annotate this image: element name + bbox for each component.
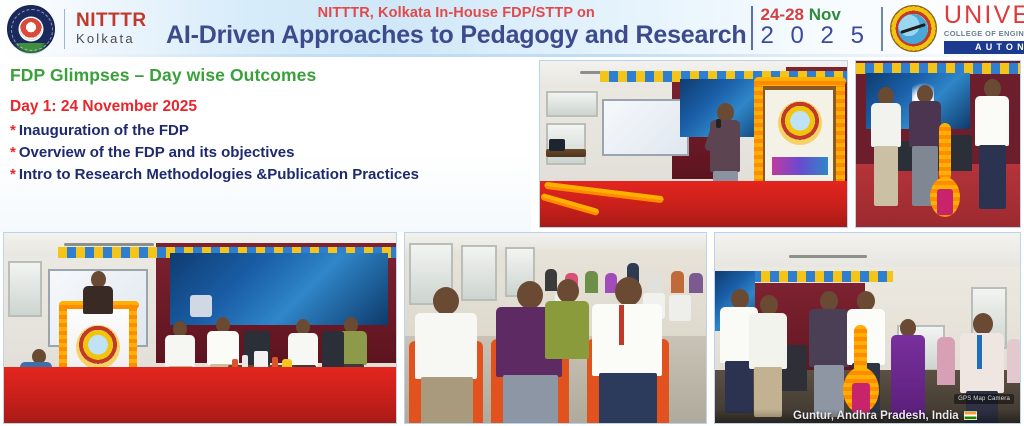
universal-subtitle: COLLEGE OF ENGINEERING &TECHNOLOGY bbox=[944, 30, 1024, 38]
poster-header: NITTTR Kolkata NITTTR, Kolkata In-House … bbox=[0, 0, 1024, 57]
outcome-bullet-3: *Intro to Research Methodologies &Public… bbox=[10, 164, 531, 186]
poster-title-block: NITTTR, Kolkata In-House FDP/STTP on AI-… bbox=[162, 6, 751, 50]
nitttr-logo-text: NITTTR Kolkata bbox=[76, 11, 147, 46]
photo-location-text: Guntur, Andhra Pradesh, India bbox=[793, 410, 959, 422]
photo-location-watermark: Guntur, Andhra Pradesh, India bbox=[715, 409, 1020, 423]
bullet-marker-icon: * bbox=[10, 166, 16, 183]
panel-heading: FDP Glimpses – Day wise Outcomes bbox=[10, 65, 531, 86]
nitttr-seal-icon bbox=[7, 5, 55, 53]
universal-name: UNIVERSAL bbox=[944, 3, 1024, 28]
bullet-marker-icon: * bbox=[10, 144, 16, 161]
gps-camera-chip: GPS Map Camera bbox=[954, 394, 1014, 404]
photo-lamp-lighting: GPS Map Camera Guntur, Andhra Pradesh, I… bbox=[714, 232, 1021, 424]
nitttr-name: NITTTR bbox=[76, 11, 147, 31]
photo-speaker-stage bbox=[539, 60, 848, 228]
photo-dais-panel bbox=[3, 232, 397, 424]
universal-divider bbox=[881, 7, 883, 51]
nitttr-logo-block: NITTTR Kolkata bbox=[0, 0, 162, 57]
fdp-glimpses-poster: NITTTR Kolkata NITTTR, Kolkata In-House … bbox=[0, 0, 1024, 426]
event-date-days-line: 24-28 Nov bbox=[761, 6, 869, 23]
event-date-days: 24-28 bbox=[761, 5, 804, 24]
outcome-bullet-2: *Overview of the FDP and its objectives bbox=[10, 142, 531, 164]
india-flag-icon bbox=[964, 411, 977, 420]
outcome-bullet-2-text: Overview of the FDP and its objectives bbox=[19, 144, 295, 161]
event-date-text: 24-28 Nov 2 0 2 5 bbox=[761, 6, 869, 49]
photo-three-dignitaries bbox=[855, 60, 1021, 228]
photo-audience bbox=[404, 232, 707, 424]
event-date-month: Nov bbox=[809, 5, 841, 24]
nitttr-city: Kolkata bbox=[76, 32, 147, 46]
date-divider bbox=[751, 6, 753, 50]
outcome-bullet-1: *Inauguration of the FDP bbox=[10, 120, 531, 142]
day-label: Day 1: 24 November 2025 bbox=[10, 98, 531, 116]
page-title: AI-Driven Approaches to Pedagogy and Res… bbox=[166, 22, 747, 49]
glimpses-text-panel: FDP Glimpses – Day wise Outcomes Day 1: … bbox=[0, 57, 531, 232]
universal-autonomous-badge: AUTONOMOUS bbox=[944, 41, 1024, 54]
bullet-marker-icon: * bbox=[10, 122, 16, 139]
event-date-block: 24-28 Nov 2 0 2 5 bbox=[751, 6, 875, 50]
header-divider bbox=[64, 9, 65, 49]
outcome-bullet-1-text: Inauguration of the FDP bbox=[19, 122, 189, 139]
universal-logo-block: UNIVERSAL COLLEGE OF ENGINEERING &TECHNO… bbox=[875, 0, 1024, 57]
outcome-bullet-3-text: Intro to Research Methodologies &Publica… bbox=[19, 166, 419, 183]
event-date-year: 2 0 2 5 bbox=[761, 24, 869, 48]
nitttr-seal-leaf-icon bbox=[14, 43, 48, 55]
title-kicker: NITTTR, Kolkata In-House FDP/STTP on bbox=[318, 6, 595, 22]
universal-logo-text: UNIVERSAL COLLEGE OF ENGINEERING &TECHNO… bbox=[944, 3, 1024, 54]
universal-college-seal-icon bbox=[890, 5, 937, 52]
